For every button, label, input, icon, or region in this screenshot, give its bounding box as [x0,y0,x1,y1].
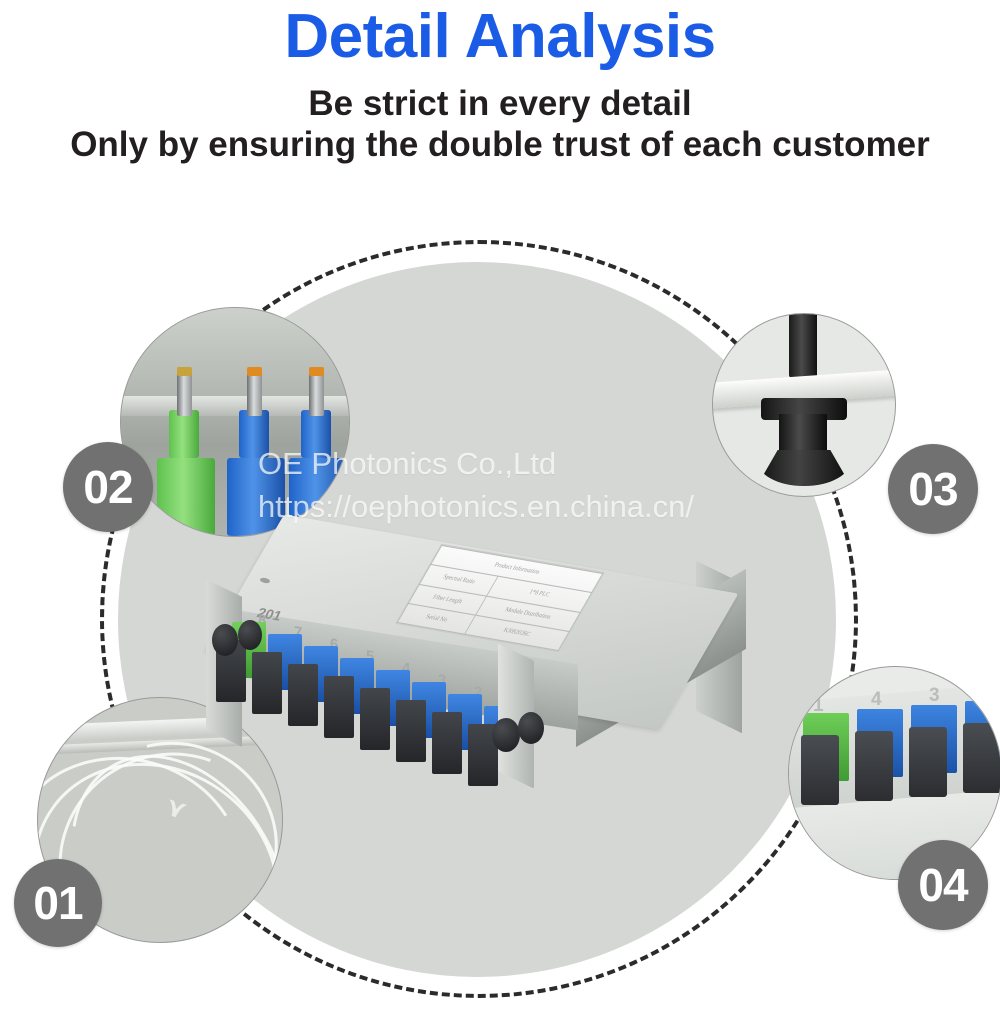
dust-cap [909,727,947,797]
sc-connector-green [157,458,215,536]
rubber-knob [238,620,262,650]
badge-01: 01 [14,859,102,947]
port-dust-cap [396,700,426,762]
badge-04: 04 [898,840,988,930]
port-dust-cap [432,712,462,774]
port-dust-cap [252,652,282,714]
badge-03: 03 [888,444,978,534]
port-dust-cap [288,664,318,726]
dust-cap [963,723,1000,793]
subtitle-line-1: Be strict in every detail [0,83,1000,124]
rubber-base [757,450,851,486]
badge-02: 02 [63,442,153,532]
detail-circle-03-rubber-mounting-foot [712,313,896,497]
dust-cap [855,731,893,801]
product-detail-image: Detail Analysis Be strict in every detai… [0,0,1000,1010]
sc-connector-blue [227,458,285,536]
mount-post [789,313,817,378]
rubber-knob [492,718,520,752]
rubber-knob [212,624,238,656]
adapter-port-number: 4 [871,689,882,711]
header: Detail Analysis Be strict in every detai… [0,0,1000,166]
detail-circle-02-connector-ferrules [120,307,350,537]
rubber-knob [518,712,544,744]
dust-cap [801,735,839,805]
plc-splitter-cassette: Product Information Spectral Ratio 1*8 P… [196,540,796,785]
subtitle-line-2: Only by ensuring the double trust of eac… [0,124,1000,165]
adapter-port-number: 3 [929,685,940,707]
port-dust-cap [324,676,354,738]
page-title: Detail Analysis [0,4,1000,69]
port-dust-cap [360,688,390,750]
